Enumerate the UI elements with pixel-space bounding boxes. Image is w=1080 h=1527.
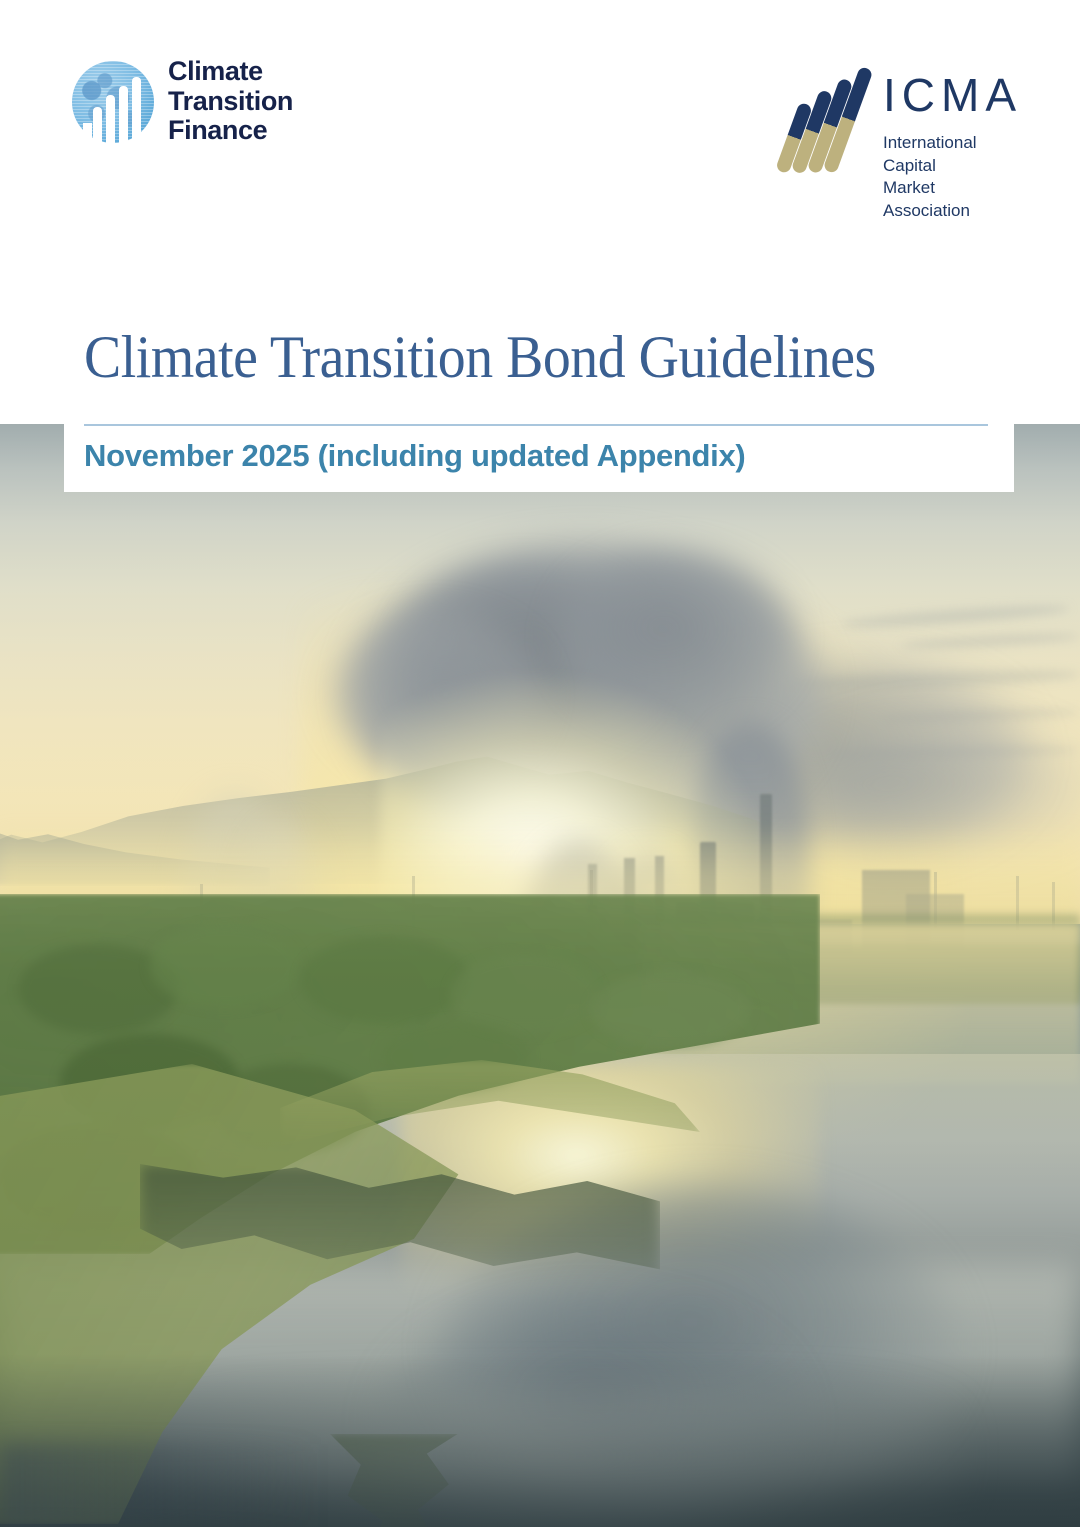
title-block: Climate Transition Bond Guidelines [84,326,1004,389]
title-divider-rule [84,424,988,426]
cover-photo [0,424,1080,1527]
icma-wordmark: ICMA [883,72,1022,118]
icma-bars-icon [789,60,867,175]
globe-bar [132,77,141,147]
icma-text-block: ICMA International Capital Market Associ… [883,60,1022,222]
climate-transition-finance-logo: Climate Transition Finance [72,57,293,146]
icma-name-line-3: Market [883,177,1022,200]
tree-canopy [150,924,300,1008]
cover-header: Climate Transition Finance ICMA Internat… [0,0,1080,424]
document-subtitle: November 2025 (including updated Appendi… [84,438,745,474]
ctf-logo-line-3: Finance [168,116,293,146]
icma-full-name: International Capital Market Association [883,132,1022,222]
subtitle-band: November 2025 (including updated Appendi… [64,412,1014,492]
icma-name-line-1: International [883,132,1022,155]
globe-bar [93,107,102,147]
globe-bar [119,86,128,147]
icma-name-line-2: Capital [883,155,1022,178]
globe-bar [106,95,115,147]
water-vignette-left [0,1444,320,1527]
icma-name-line-4: Association [883,200,1022,223]
page-title: Climate Transition Bond Guidelines [84,326,940,389]
tree-canopy [300,936,470,1024]
ctf-logo-text: Climate Transition Finance [168,57,293,146]
globe-icon [72,61,154,143]
ctf-logo-line-1: Climate [168,57,293,87]
ctf-logo-line-2: Transition [168,87,293,117]
icma-logo: ICMA International Capital Market Associ… [789,60,1022,222]
tree-canopy [590,972,750,1048]
document-cover-page: Climate Transition Finance ICMA Internat… [0,0,1080,1527]
